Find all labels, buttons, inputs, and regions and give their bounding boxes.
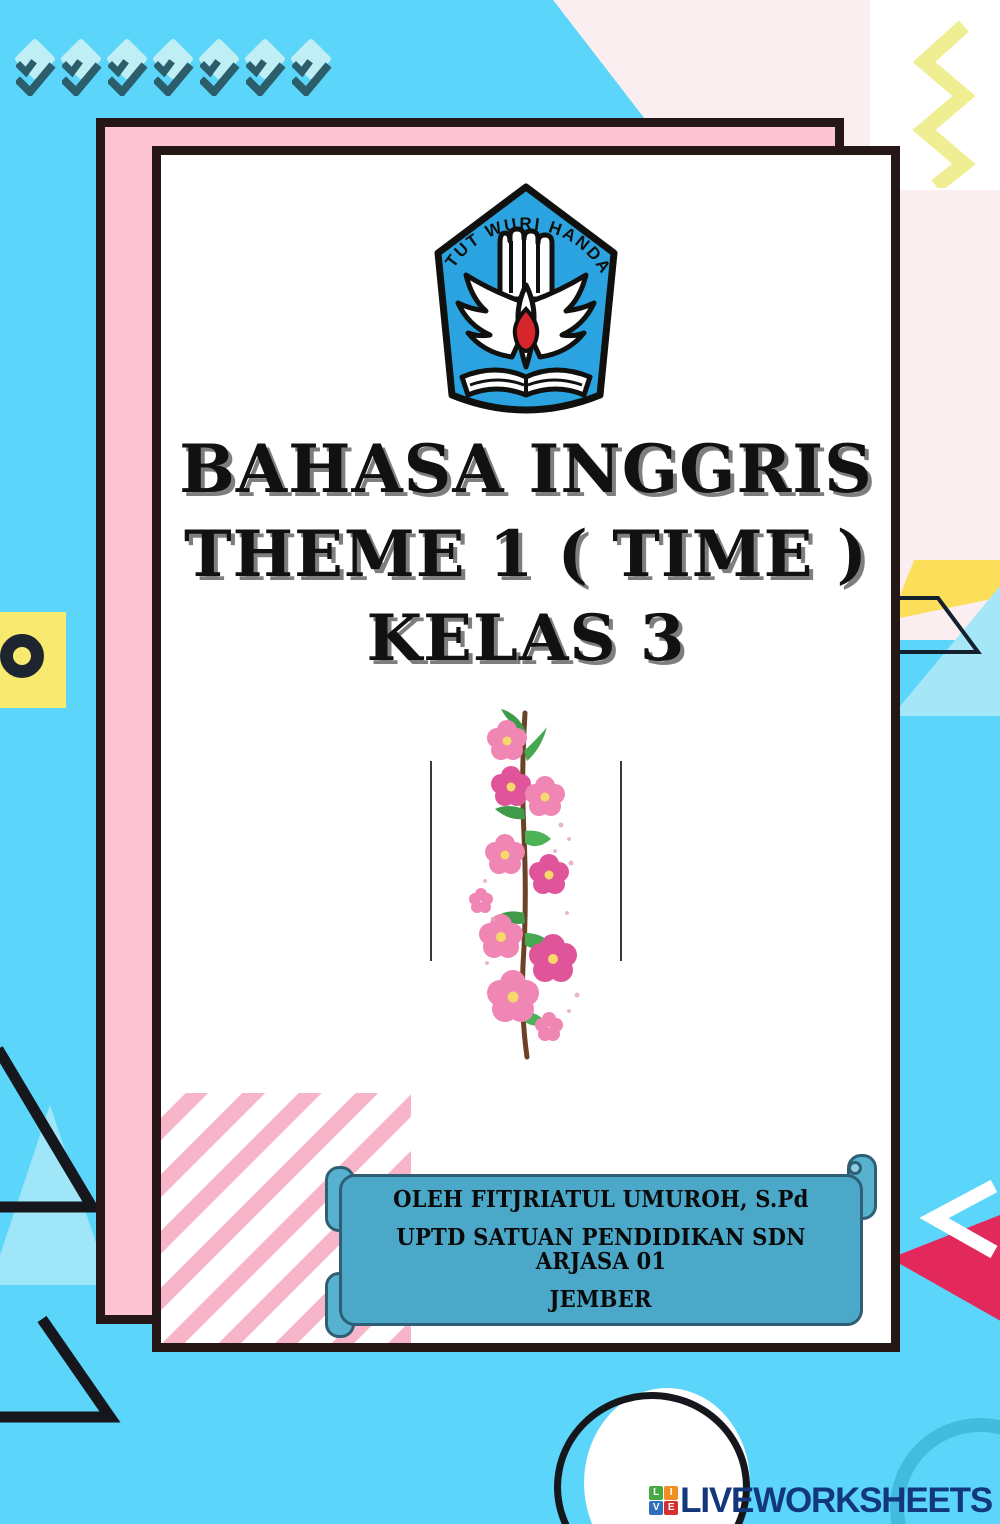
banner-line-school: UPTD SATUAN PENDIDIKAN SDN ARJASA 01 xyxy=(379,1226,822,1274)
title-line-3: KELAS 3 xyxy=(161,605,891,673)
checkmark-icon xyxy=(60,42,102,106)
tut-wuri-handayani-logo: TUT WURI HANDAYANI xyxy=(406,179,646,429)
lw-tile-v: V xyxy=(649,1501,663,1515)
cherry-blossom-branch xyxy=(406,705,646,1065)
liveworksheets-wordmark: LIVEWORKSHEETS xyxy=(680,1483,992,1518)
checkmark-pattern xyxy=(14,42,332,106)
liveworksheets-logo-icon: L I V E xyxy=(649,1486,678,1515)
banner-line-city: JEMBER xyxy=(550,1288,652,1312)
page-title: BAHASA INGGRIS THEME 1 ( TIME ) KELAS 3 xyxy=(161,435,891,673)
title-line-2: THEME 1 ( TIME ) xyxy=(161,521,891,589)
checkmark-icon xyxy=(198,42,240,106)
checkmark-icon xyxy=(106,42,148,106)
trapezoid-outline-icon xyxy=(890,590,1000,670)
checkmark-icon xyxy=(244,42,286,106)
white-cover-card: TUT WURI HANDAYANI xyxy=(152,146,900,1352)
lw-tile-i: I xyxy=(664,1486,678,1500)
author-banner: OLEH FITJRIATUL UMUROH, S.Pd UPTD SATUAN… xyxy=(321,1160,881,1345)
liveworksheets-watermark: L I V E LIVEWORKSHEETS xyxy=(649,1483,992,1518)
checkmark-icon xyxy=(152,42,194,106)
title-line-1: BAHASA INGGRIS xyxy=(161,435,891,505)
ring-on-yellow-square xyxy=(0,612,66,708)
vertical-rule-left xyxy=(430,761,432,961)
lw-tile-l: L xyxy=(649,1486,663,1500)
banner-line-author: OLEH FITJRIATUL UMUROH, S.Pd xyxy=(393,1188,808,1212)
blossom-branch-icon xyxy=(451,705,601,1065)
chevron-white-icon xyxy=(890,1180,1000,1270)
lw-tile-e: E xyxy=(664,1501,678,1515)
vertical-rule-right xyxy=(620,761,622,961)
banner-body: OLEH FITJRIATUL UMUROH, S.Pd UPTD SATUAN… xyxy=(339,1174,863,1326)
checkmark-icon xyxy=(14,42,56,106)
ring-icon xyxy=(0,634,44,678)
zigzag-yellow-icon xyxy=(906,18,982,188)
checkmark-icon xyxy=(290,42,332,106)
ministry-emblem-icon: TUT WURI HANDAYANI xyxy=(408,181,644,427)
worksheet-cover-page: TUT WURI HANDAYANI xyxy=(0,0,1000,1524)
